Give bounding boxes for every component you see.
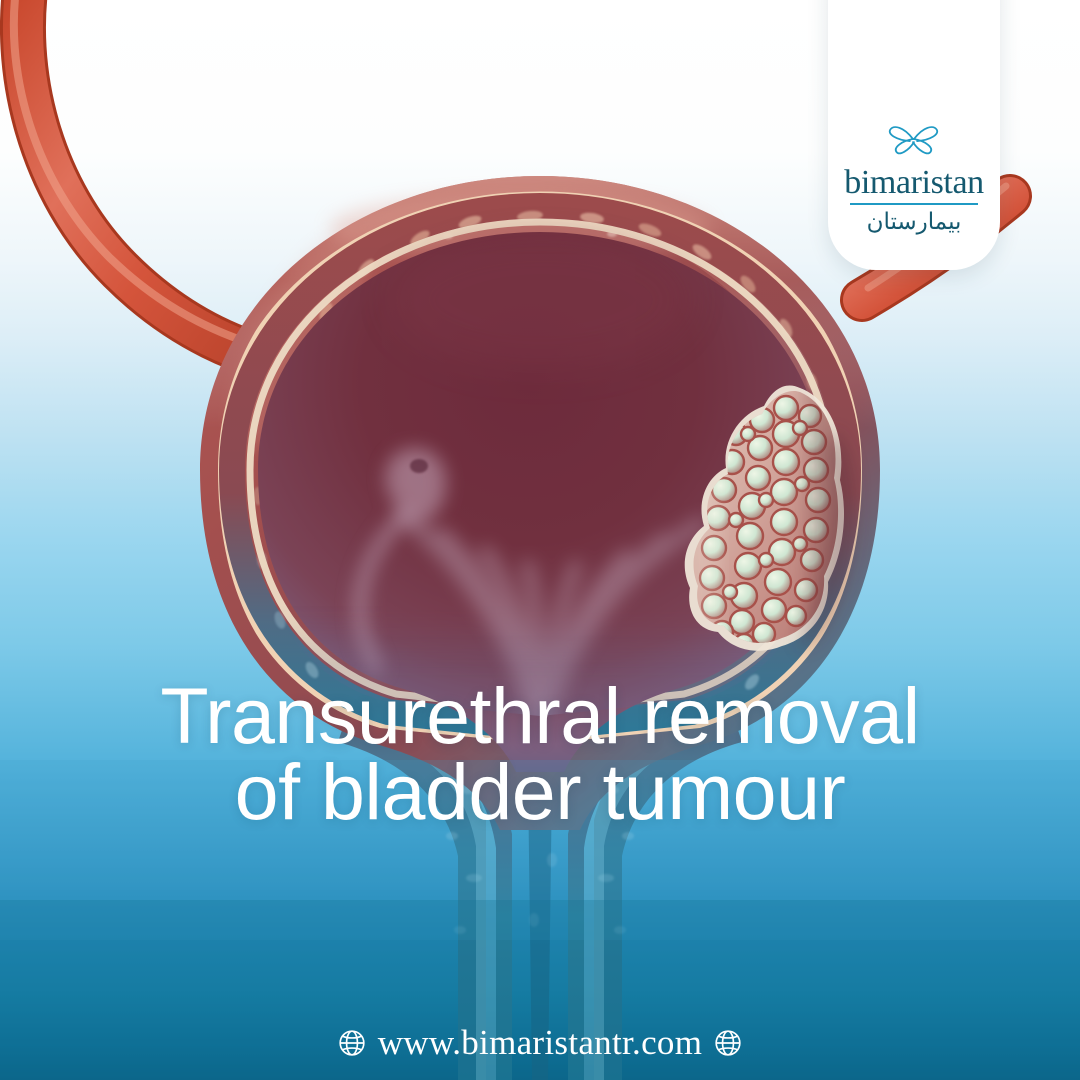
page-title: Transurethral removal of bladder tumour: [0, 678, 1080, 830]
website-url[interactable]: www.bimaristantr.com: [378, 1023, 703, 1063]
title-line-1: Transurethral removal: [40, 678, 1040, 754]
globe-icon: [338, 1029, 366, 1057]
title-line-2: of bladder tumour: [40, 754, 1040, 830]
butterfly-leaf-icon: [883, 118, 945, 158]
globe-icon: [714, 1029, 742, 1057]
bimaristan-logo-card[interactable]: bimaristan بيمارستان: [828, 0, 1000, 270]
logo-wordmark-arabic: بيمارستان: [867, 207, 962, 236]
poster-canvas: bimaristan بيمارستان Transurethral remov…: [0, 0, 1080, 1080]
footer-bar: www.bimaristantr.com: [0, 1023, 1080, 1063]
logo-wordmark: bimaristan: [844, 166, 984, 200]
logo-underline: [850, 203, 978, 205]
ureteric-orifice: [410, 459, 428, 473]
